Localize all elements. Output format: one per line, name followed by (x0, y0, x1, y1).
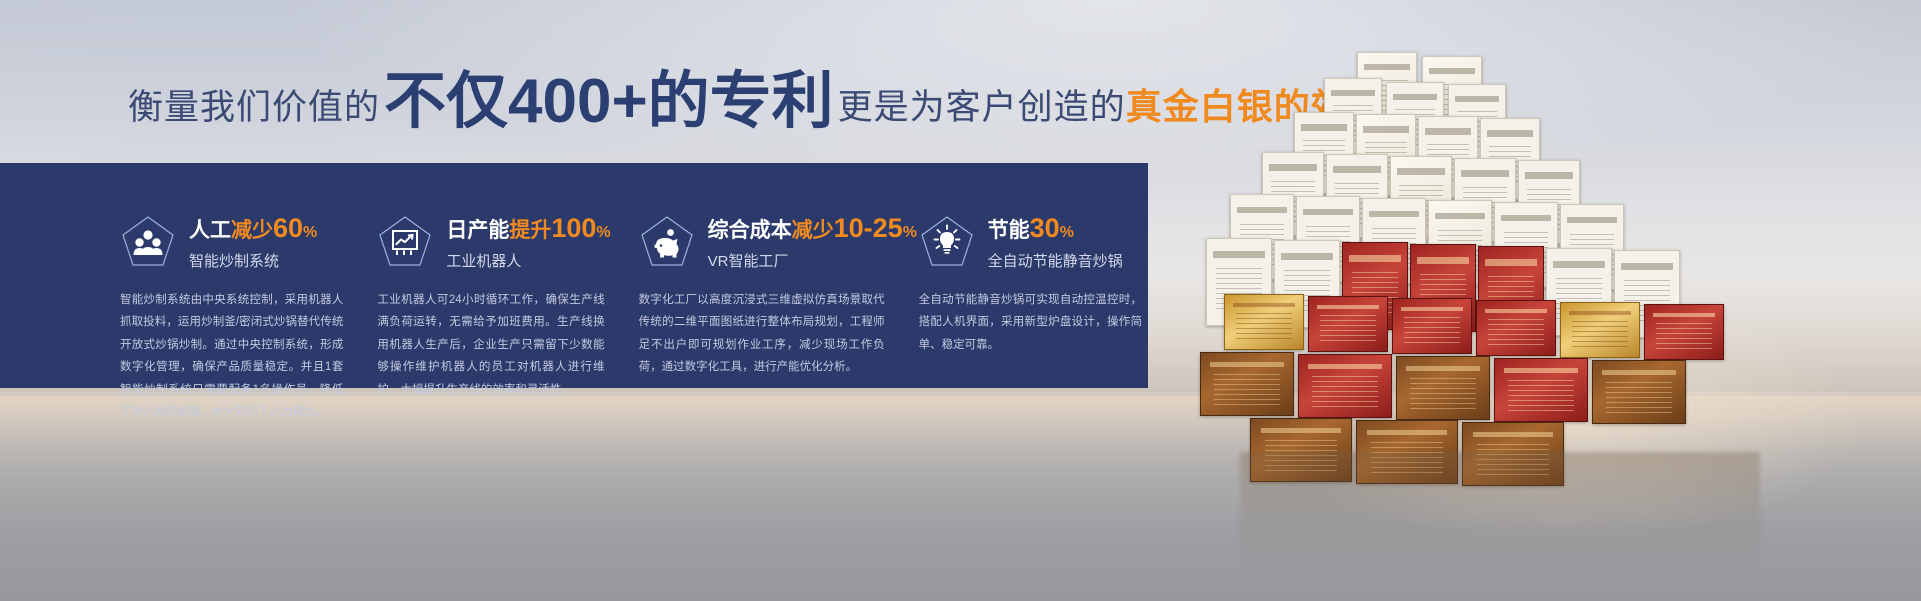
certificate-item (1224, 294, 1304, 350)
feature-title-number: 30 (1030, 213, 1060, 243)
certificate-item (1308, 296, 1388, 352)
feature-title: 日产能提升100% (446, 213, 610, 244)
certificate-wall (1190, 52, 1790, 452)
feature-subtitle: VR智能工厂 (708, 250, 891, 271)
feature-title-prefix: 日产能 (446, 219, 509, 242)
certificate-item (1592, 360, 1686, 424)
feature-title-number: 60 (273, 213, 303, 243)
feature-subtitle: 智能炒制系统 (189, 250, 317, 271)
certificate-item (1200, 352, 1294, 416)
feature-title-prefix: 综合成本 (708, 219, 792, 242)
chart-board-icon (377, 214, 433, 270)
certificate-item (1476, 300, 1556, 356)
feature-title-number: 10-25 (834, 213, 903, 243)
feature-title-percent: % (1060, 224, 1074, 241)
feature-title-percent: % (303, 224, 317, 241)
feature-title-percent: % (596, 224, 610, 241)
certificate-item (1298, 354, 1392, 418)
headline-lead: 衡量我们价值的 (128, 90, 380, 125)
feature-card: 综合成本减少10-25% VR智能工厂 数字化工厂以高度沉浸式三维虚拟仿真场景取… (639, 163, 891, 388)
certificate-item (1644, 304, 1724, 360)
feature-card: 人工减少60% 智能炒制系统 智能炒制系统由中央系统控制，采用机器人抓取投料，运… (120, 163, 349, 388)
feature-title-number: 100 (551, 213, 596, 243)
headline-emphasis: 不仅400+的专利 (380, 71, 838, 133)
piggy-bank-icon (639, 214, 695, 270)
certificate-item (1392, 298, 1472, 354)
certificate-item (1250, 418, 1352, 482)
feature-subtitle: 工业机器人 (446, 250, 610, 271)
light-bulb-icon (919, 214, 975, 270)
certificate-item (1396, 356, 1490, 420)
feature-title: 人工减少60% (189, 213, 317, 244)
certificate-item (1356, 420, 1458, 484)
feature-description: 工业机器人可24小时循环工作，确保生产线满负荷运转，无需给予加班费用。生产线换用… (377, 289, 610, 401)
feature-description: 智能炒制系统由中央系统控制，采用机器人抓取投料，运用炒制釜/密闭式炒锅替代传统开… (120, 289, 349, 424)
headline-mid: 更是为客户创造的 (838, 90, 1126, 125)
feature-description: 数字化工厂以高度沉浸式三维虚拟仿真场景取代传统的二维平面图纸进行整体布局规划，工… (639, 289, 891, 379)
certificate-item (1462, 422, 1564, 486)
people-group-icon (120, 214, 176, 270)
promo-banner: 衡量我们价值的 不仅400+的专利 更是为客户创造的 真金白银的效益 (0, 0, 1921, 601)
feature-title-highlight: 减少 (792, 219, 834, 242)
feature-title-prefix: 节能 (988, 219, 1030, 242)
feature-title: 综合成本减少10-25% (708, 213, 891, 244)
feature-title-highlight: 提升 (509, 219, 551, 242)
feature-title-prefix: 人工 (189, 219, 231, 242)
feature-subtitle: 全自动节能静音炒锅 (988, 250, 1123, 271)
certificate-item (1560, 302, 1640, 358)
feature-card: 节能30% 全自动节能静音炒锅 全自动节能静音炒锅可实现自动控温控时，搭配人机界… (919, 163, 1148, 388)
feature-description: 全自动节能静音炒锅可实现自动控温控时，搭配人机界面，采用新型炉盘设计，操作简单、… (919, 289, 1148, 356)
features-panel: 人工减少60% 智能炒制系统 智能炒制系统由中央系统控制，采用机器人抓取投料，运… (0, 163, 1148, 388)
feature-title-percent: % (903, 224, 917, 241)
feature-title: 节能30% (988, 213, 1123, 244)
feature-title-highlight: 减少 (231, 219, 273, 242)
feature-card: 日产能提升100% 工业机器人 工业机器人可24小时循环工作，确保生产线满负荷运… (377, 163, 610, 388)
certificate-item (1494, 358, 1588, 422)
